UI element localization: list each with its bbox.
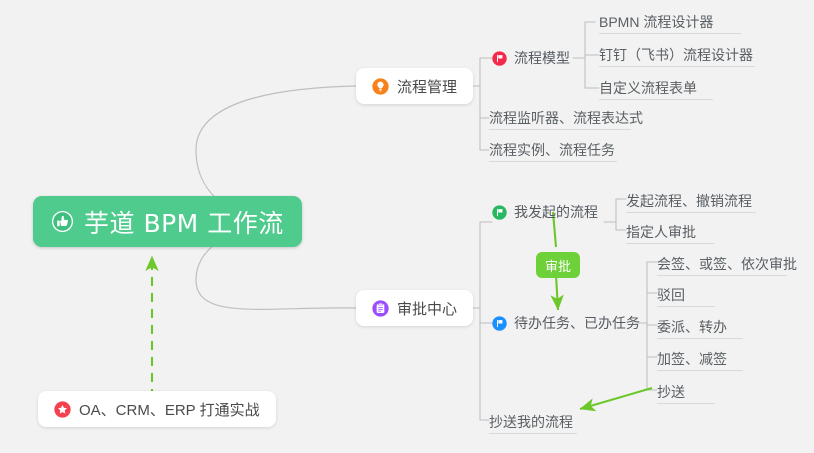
branch-label: 审批中心	[397, 298, 457, 319]
annotation-label: 审批	[545, 256, 571, 275]
leaf-cc[interactable]: 抄送	[657, 378, 715, 404]
leaf-label: 委派、转办	[657, 319, 727, 336]
leaf-start-cancel[interactable]: 发起流程、撤销流程	[626, 187, 756, 213]
flag-green-icon	[492, 205, 507, 220]
node-label: 流程模型	[514, 48, 570, 68]
leaf-add-remove-sign[interactable]: 加签、减签	[657, 345, 743, 371]
node-process-model[interactable]: 流程模型	[492, 46, 570, 70]
leaf-delegate[interactable]: 委派、转办	[657, 313, 743, 339]
branch-process-management[interactable]: 流程管理	[356, 68, 473, 104]
leaf-dingtalk-designer[interactable]: 钉钉（飞书）流程设计器	[599, 41, 755, 67]
leaf-label: BPMN 流程设计器	[599, 14, 713, 31]
flag-red-icon	[492, 51, 507, 66]
root-node[interactable]: 芋道 BPM 工作流	[33, 196, 302, 247]
leaf-label: 抄送	[657, 384, 685, 401]
leaf-bpmn-designer[interactable]: BPMN 流程设计器	[599, 8, 741, 34]
leaf-reject[interactable]: 驳回	[657, 281, 715, 307]
leaf-listener-expression[interactable]: 流程监听器、流程表达式	[489, 104, 631, 130]
leaf-label: 加签、减签	[657, 351, 727, 368]
clipboard-icon	[372, 300, 389, 317]
footnote-label: OA、CRM、ERP 打通实战	[79, 399, 260, 420]
node-my-initiated[interactable]: 我发起的流程	[492, 200, 598, 224]
flag-blue-icon	[492, 316, 507, 331]
leaf-label: 会签、或签、依次审批	[657, 256, 797, 273]
thumbs-up-icon	[51, 210, 74, 233]
footnote-node[interactable]: OA、CRM、ERP 打通实战	[38, 391, 276, 427]
leaf-instance-task[interactable]: 流程实例、流程任务	[489, 136, 617, 162]
root-label: 芋道 BPM 工作流	[84, 204, 284, 240]
leaf-label: 指定人审批	[626, 224, 696, 241]
leaf-label: 发起流程、撤销流程	[626, 193, 752, 210]
mindmap-canvas: 芋道 BPM 工作流 OA、CRM、ERP 打通实战 流程管理	[0, 0, 814, 453]
branch-approval-center[interactable]: 审批中心	[356, 290, 473, 326]
leaf-label: 钉钉（飞书）流程设计器	[599, 47, 753, 64]
node-label: 我发起的流程	[514, 202, 598, 222]
node-label: 待办任务、已办任务	[514, 313, 640, 333]
star-icon	[54, 401, 71, 418]
lightbulb-icon	[372, 78, 389, 95]
leaf-label: 流程监听器、流程表达式	[489, 110, 643, 127]
leaf-label: 驳回	[657, 287, 685, 304]
leaf-label: 自定义流程表单	[599, 80, 697, 97]
leaf-custom-form[interactable]: 自定义流程表单	[599, 74, 713, 100]
annotation-approval-pill: 审批	[536, 252, 580, 278]
node-todo-done[interactable]: 待办任务、已办任务	[492, 311, 640, 335]
branch-label: 流程管理	[397, 76, 457, 97]
leaf-label: 抄送我的流程	[489, 414, 573, 431]
leaf-assignee-approve[interactable]: 指定人审批	[626, 218, 714, 244]
leaf-countersign[interactable]: 会签、或签、依次审批	[657, 250, 787, 276]
leaf-label: 流程实例、流程任务	[489, 142, 615, 159]
leaf-cc-to-me[interactable]: 抄送我的流程	[489, 408, 577, 434]
